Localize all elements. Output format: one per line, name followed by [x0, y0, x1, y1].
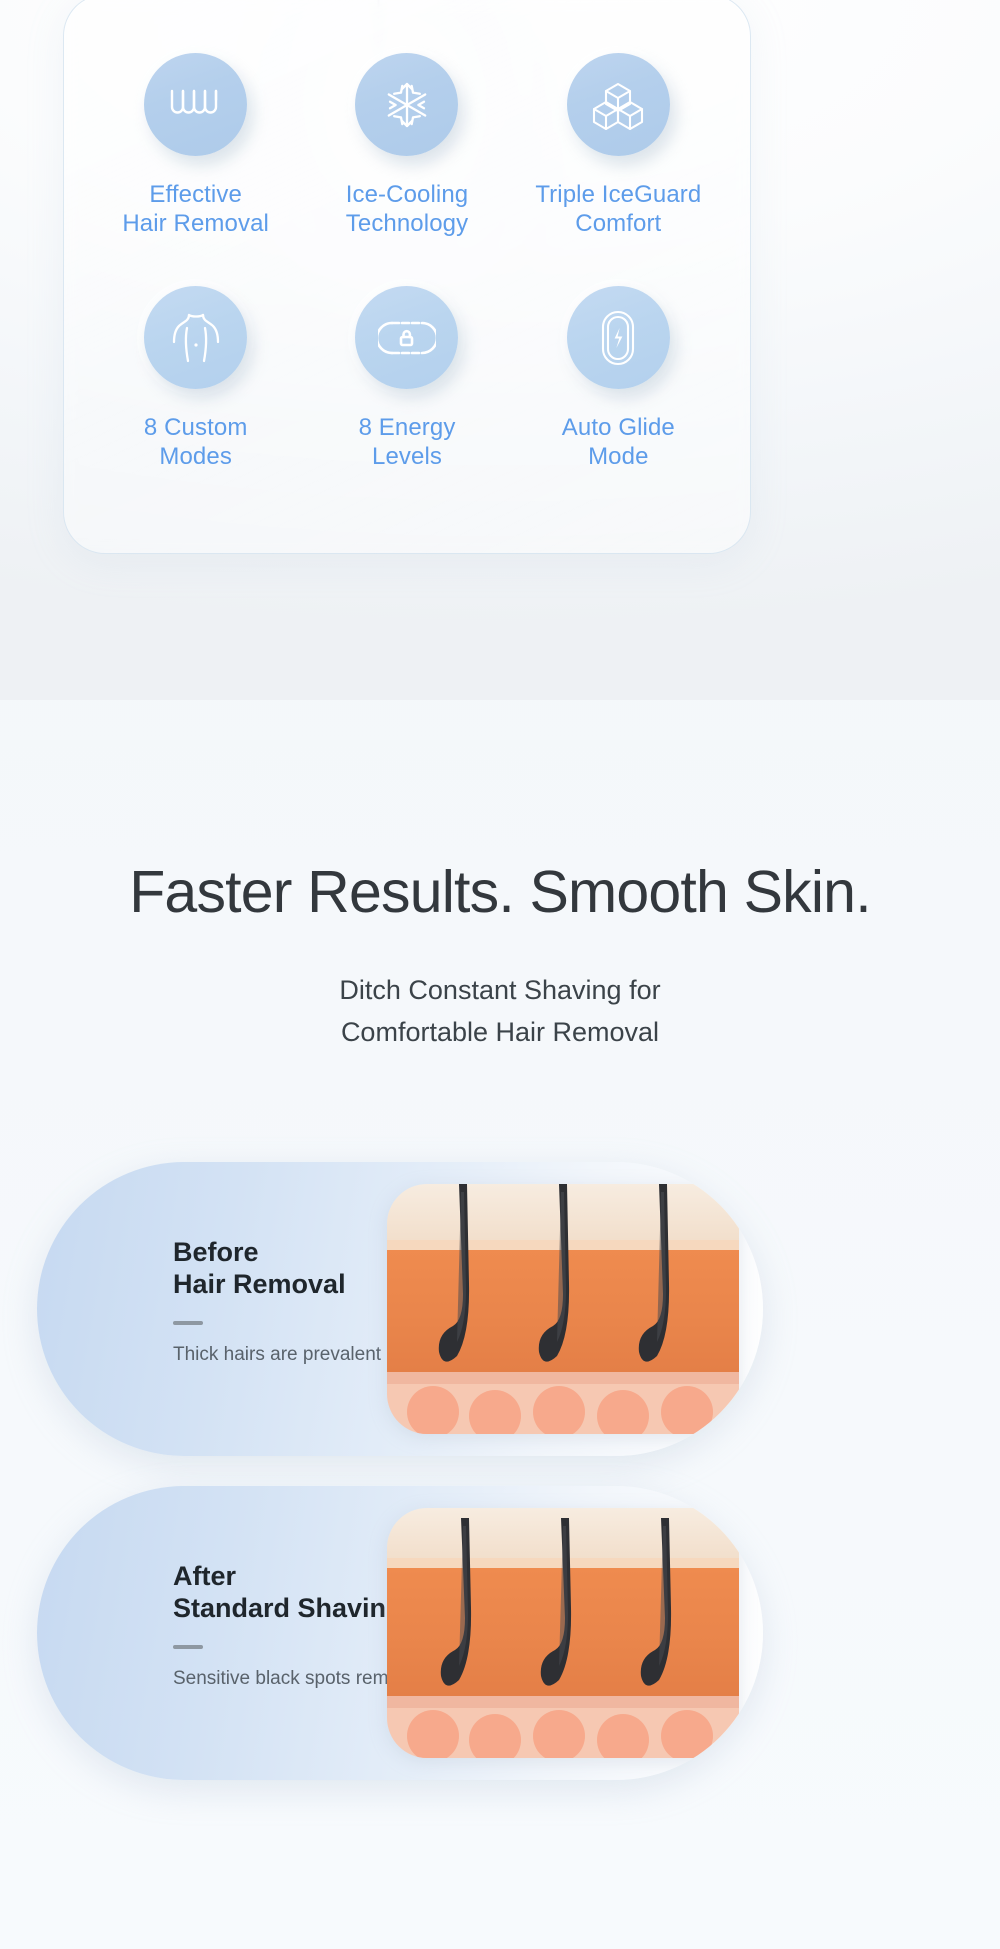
feature-label-line2: Mode: [588, 443, 648, 470]
feature-label-line1: Auto Glide: [562, 414, 675, 441]
feature-label: Auto Glide Mode: [562, 413, 675, 472]
skin-cross-section-black-spots-illustration: [387, 1508, 739, 1758]
feature-label: Triple IceGuard Comfort: [535, 180, 701, 239]
feature-label: 8 Energy Levels: [359, 413, 456, 472]
feature-label: 8 Custom Modes: [144, 413, 248, 472]
card-divider: [173, 1321, 203, 1325]
features-section: Effective Hair Removal: [0, 0, 1000, 700]
feature-label: Ice-Cooling Technology: [346, 180, 469, 239]
skin-cross-section-thick-hairs-illustration: [387, 1184, 739, 1434]
feature-label-line2: Modes: [159, 443, 232, 470]
feature-label-line2: Technology: [346, 210, 468, 237]
headline-section: Faster Results. Smooth Skin. Ditch Const…: [0, 690, 1000, 930]
feature-label-line1: Ice-Cooling: [346, 181, 469, 208]
feature-grid: Effective Hair Removal: [64, 0, 750, 553]
feature-item-auto-glide-mode[interactable]: Auto Glide Mode: [513, 286, 724, 519]
feature-label-line1: 8 Energy: [359, 414, 456, 441]
feature-item-8-energy-levels[interactable]: 8 Energy Levels: [301, 286, 512, 519]
feature-item-triple-iceguard-comfort[interactable]: Triple IceGuard Comfort: [513, 53, 724, 286]
comparison-card-before-hair-removal[interactable]: Before Hair Removal Thick hairs are prev…: [37, 1162, 763, 1456]
feature-item-8-custom-modes[interactable]: 8 Custom Modes: [90, 286, 301, 519]
feature-label-line2: Hair Removal: [122, 210, 269, 237]
energy-level-icon: [355, 286, 458, 389]
page-subtitle-line1: Ditch Constant Shaving for: [339, 975, 660, 1005]
card-divider: [173, 1645, 203, 1649]
ice-cubes-icon: [567, 53, 670, 156]
feature-label-line2: Levels: [372, 443, 442, 470]
feature-label-line1: Triple IceGuard: [535, 181, 701, 208]
feature-glass-card: Effective Hair Removal: [63, 0, 751, 554]
feature-label-line1: 8 Custom: [144, 414, 248, 441]
auto-glide-icon: [567, 286, 670, 389]
feature-label-line1: Effective: [149, 181, 242, 208]
feature-label-line2: Comfort: [575, 210, 661, 237]
page-subtitle: Ditch Constant Shaving for Comfortable H…: [0, 970, 1000, 1054]
feature-item-effective-hair-removal[interactable]: Effective Hair Removal: [90, 53, 301, 286]
page-title: Faster Results. Smooth Skin.: [0, 862, 1000, 924]
hair-follicle-icon: [144, 53, 247, 156]
page-subtitle-line2: Comfortable Hair Removal: [341, 1017, 659, 1047]
body-torso-icon: [144, 286, 247, 389]
feature-label: Effective Hair Removal: [122, 180, 269, 239]
snowflake-icon: [355, 53, 458, 156]
comparison-card-after-standard-shaving[interactable]: After Standard Shaving Sensitive black s…: [37, 1486, 763, 1780]
feature-item-ice-cooling-technology[interactable]: Ice-Cooling Technology: [301, 53, 512, 286]
